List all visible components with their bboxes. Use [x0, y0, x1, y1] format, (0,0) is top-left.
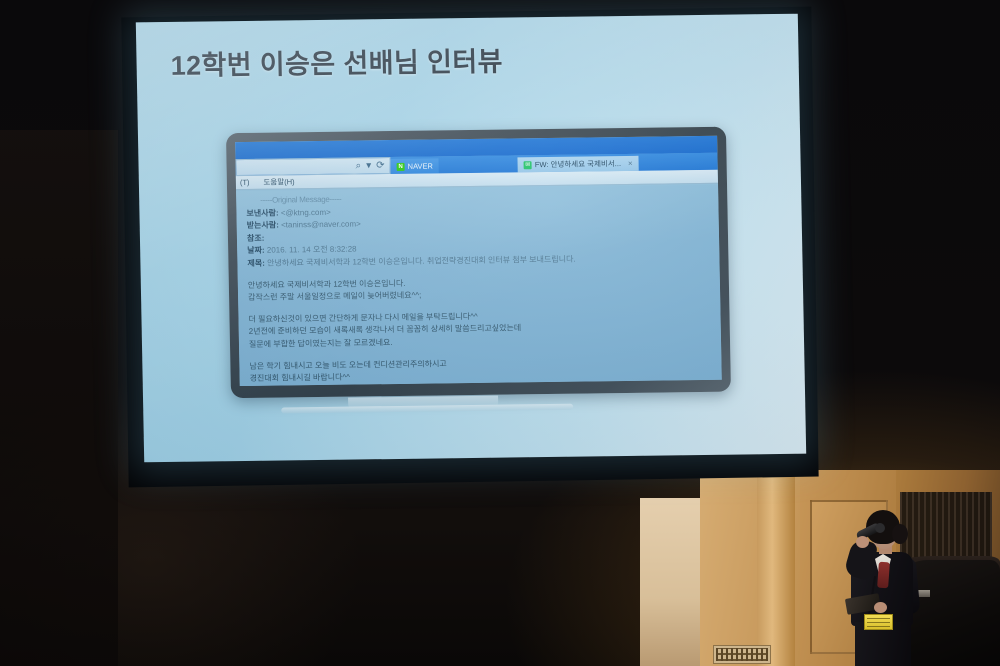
chevron-down-icon[interactable]: ▾	[366, 160, 371, 172]
microphone-head	[875, 523, 885, 533]
monitor-bezel: ⌕ ▾ ⟳ N NAVER ✉ FW: 안녕하세요 국제비서... ×	[226, 127, 731, 398]
mail-icon: ✉	[524, 161, 532, 169]
mail-header-cc-key: 참조:	[247, 233, 265, 242]
name-badge-text	[867, 617, 890, 627]
left-wall-panel	[0, 130, 118, 666]
auditorium-scene: 12학번 이승은 선배님 인터뷰 ⌕ ▾ ⟳ N NAVER	[0, 0, 1000, 666]
monitor-screen: ⌕ ▾ ⟳ N NAVER ✉ FW: 안녕하세요 국제비서... ×	[235, 136, 722, 386]
search-icon[interactable]: ⌕	[355, 160, 361, 172]
menu-item-help[interactable]: 도움말(H)	[263, 176, 294, 187]
tab-mail-forward-label: FW: 안녕하세요 국제비서...	[535, 158, 621, 170]
mail-header-subject-value: 안녕하세요 국제비서학과 12학번 이승은입니다. 취업전략경진대회 인터뷰 첨…	[267, 255, 576, 268]
mail-header-from-key: 보낸사람:	[246, 208, 278, 217]
menu-item-tools[interactable]: (T)	[240, 178, 250, 187]
address-bar-icons: ⌕ ▾ ⟳	[355, 160, 384, 172]
mail-header-date-value: 2016. 11. 14 오전 8:32:28	[267, 245, 357, 255]
wall-vent-icon	[713, 645, 771, 664]
name-badge	[864, 614, 893, 630]
presenter-hand-upper	[856, 536, 869, 548]
mail-header-date-key: 날짜:	[247, 246, 265, 255]
presentation-slide: 12학번 이승은 선배님 인터뷰 ⌕ ▾ ⟳ N NAVER	[136, 14, 806, 463]
refresh-icon[interactable]: ⟳	[376, 160, 385, 172]
page-title: 12학번 이승은 선배님 인터뷰	[170, 40, 503, 83]
presenter-scarf	[877, 562, 890, 589]
presenter-hair-bun	[892, 524, 908, 544]
tab-mail-forward[interactable]: ✉ FW: 안녕하세요 국제비서... ×	[518, 156, 639, 173]
mail-header-to-key: 받는사람:	[247, 221, 279, 230]
address-bar[interactable]: ⌕ ▾ ⟳	[235, 157, 390, 176]
mail-header-subject-key: 제목:	[247, 259, 265, 268]
close-icon[interactable]: ×	[628, 159, 633, 168]
presenter	[826, 510, 946, 666]
wood-column	[757, 470, 795, 666]
mail-header-to-value: <taninss@naver.com>	[281, 220, 361, 230]
mail-message-body: -----Original Message----- 보낸사람: <@ktng.…	[236, 185, 722, 386]
tab-naver-label: NAVER	[408, 161, 433, 170]
monitor-base	[281, 404, 573, 414]
vent-grille	[716, 648, 768, 661]
presenter-hand-lower	[874, 602, 887, 613]
naver-icon: N	[397, 162, 405, 170]
tab-naver[interactable]: N NAVER	[390, 158, 439, 174]
mail-header-from-value: <@ktng.com>	[281, 207, 331, 217]
